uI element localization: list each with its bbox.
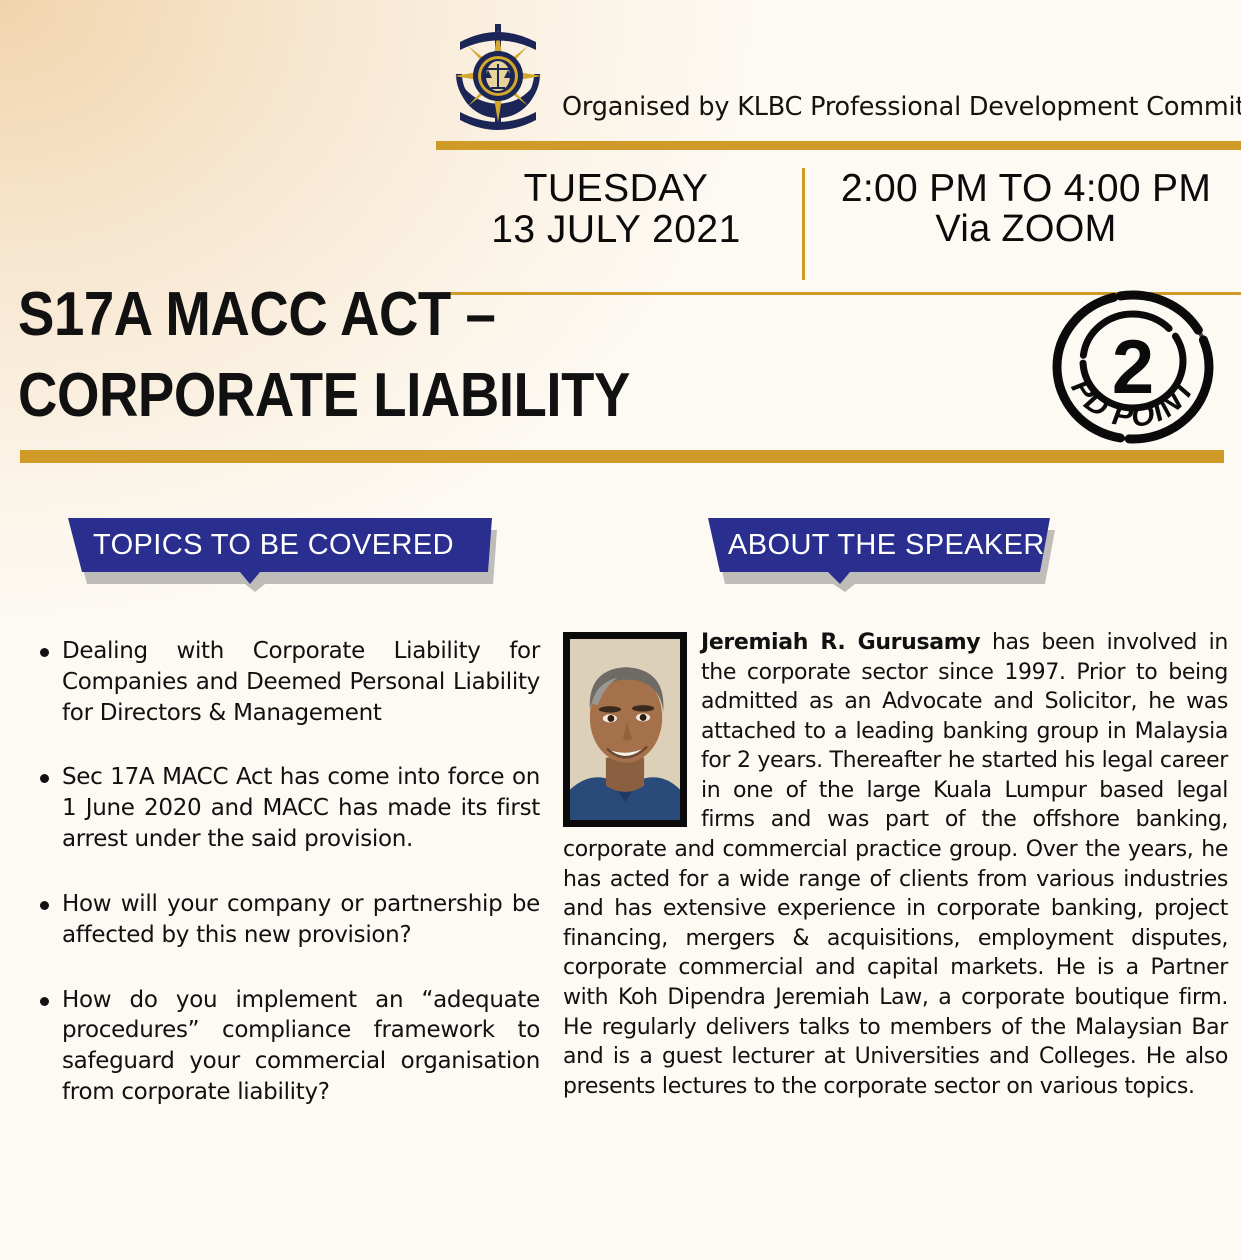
poster-header: Organised by KLBC Professional Developme… [0, 0, 1241, 150]
event-time-column: 2:00 PM TO 4:00 PM Via ZOOM [811, 168, 1241, 250]
bar-malaysia-logo [444, 16, 552, 136]
bar-malaysia-logo-icon [444, 16, 552, 136]
speaker-banner-shape [700, 518, 1050, 584]
topic-item: How will your company or partnership be … [30, 889, 540, 951]
title-gold-divider [20, 450, 1224, 463]
speaker-avatar [563, 632, 687, 827]
organiser-text: Organised by KLBC Professional Developme… [562, 92, 1241, 122]
event-day: TUESDAY [436, 168, 796, 209]
cpd-stamp-icon: 2 CPD POINTS [1042, 283, 1224, 451]
event-date-column: TUESDAY 13 JULY 2021 [436, 168, 796, 251]
datetime-vertical-divider [802, 168, 805, 280]
topic-item: Sec 17A MACC Act has come into force on … [30, 762, 540, 854]
speaker-portrait-image [570, 639, 680, 820]
speaker-section: Jeremiah R. Gurusamy has been involved i… [563, 628, 1228, 1101]
topic-item: Dealing with Corporate Liability for Com… [30, 636, 540, 728]
header-gold-divider [436, 141, 1241, 150]
topics-banner-shape [60, 518, 492, 584]
event-date: 13 JULY 2021 [436, 209, 796, 250]
event-datetime-block: TUESDAY 13 JULY 2021 2:00 PM TO 4:00 PM … [436, 168, 1241, 280]
event-platform: Via ZOOM [811, 209, 1241, 249]
topic-item: How do you implement an “adequate proced… [30, 985, 540, 1108]
speaker-section-banner: ABOUT THE SPEAKER [700, 518, 1050, 584]
topics-list: Dealing with Corporate Liability for Com… [30, 636, 540, 1108]
cpd-points-badge: 2 CPD POINTS [1042, 283, 1224, 451]
page-title: S17A MACC ACT – CORPORATE LIABILITY [18, 286, 918, 426]
topics-section-banner: TOPICS TO BE COVERED [60, 518, 492, 584]
title-line-2: CORPORATE LIABILITY [18, 367, 810, 426]
title-line-1: S17A MACC ACT – [18, 286, 810, 345]
event-time: 2:00 PM TO 4:00 PM [811, 168, 1241, 209]
speaker-name: Jeremiah R. Gurusamy [701, 630, 980, 655]
cpd-points-value: 2 [1112, 325, 1154, 410]
event-poster: Organised by KLBC Professional Developme… [0, 0, 1241, 1260]
